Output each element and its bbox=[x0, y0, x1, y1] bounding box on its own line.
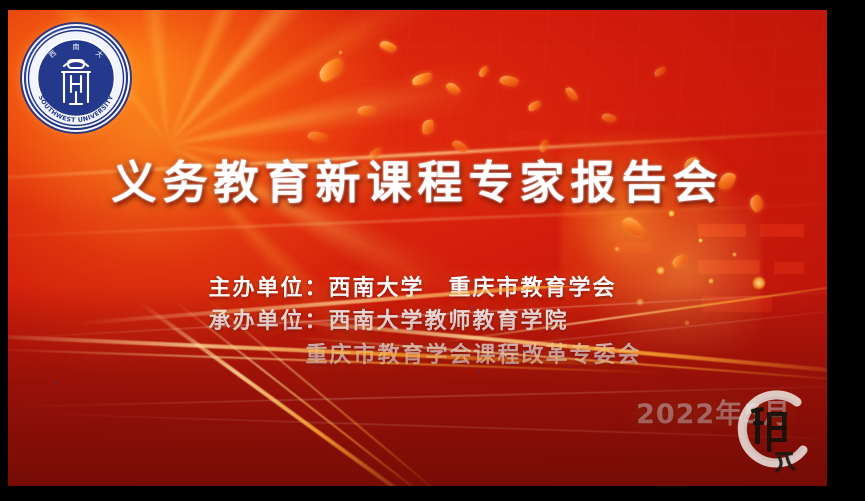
southwest-university-emblem: 西 南 大 SOUTHWEST UNIVERSITY bbox=[24, 26, 128, 130]
presentation-slide-stage: 西 南 大 SOUTHWEST UNIVERSITY 义务教育新课程专家报告会 … bbox=[8, 10, 827, 486]
page-title: 义务教育新课程专家报告会 bbox=[8, 160, 827, 205]
slide-frame: 西 南 大 SOUTHWEST UNIVERSITY 义务教育新课程专家报告会 … bbox=[0, 0, 865, 501]
background-golden-ribbons bbox=[8, 286, 827, 486]
brush-seal-watermark bbox=[725, 388, 821, 480]
svg-text:南: 南 bbox=[73, 42, 80, 51]
